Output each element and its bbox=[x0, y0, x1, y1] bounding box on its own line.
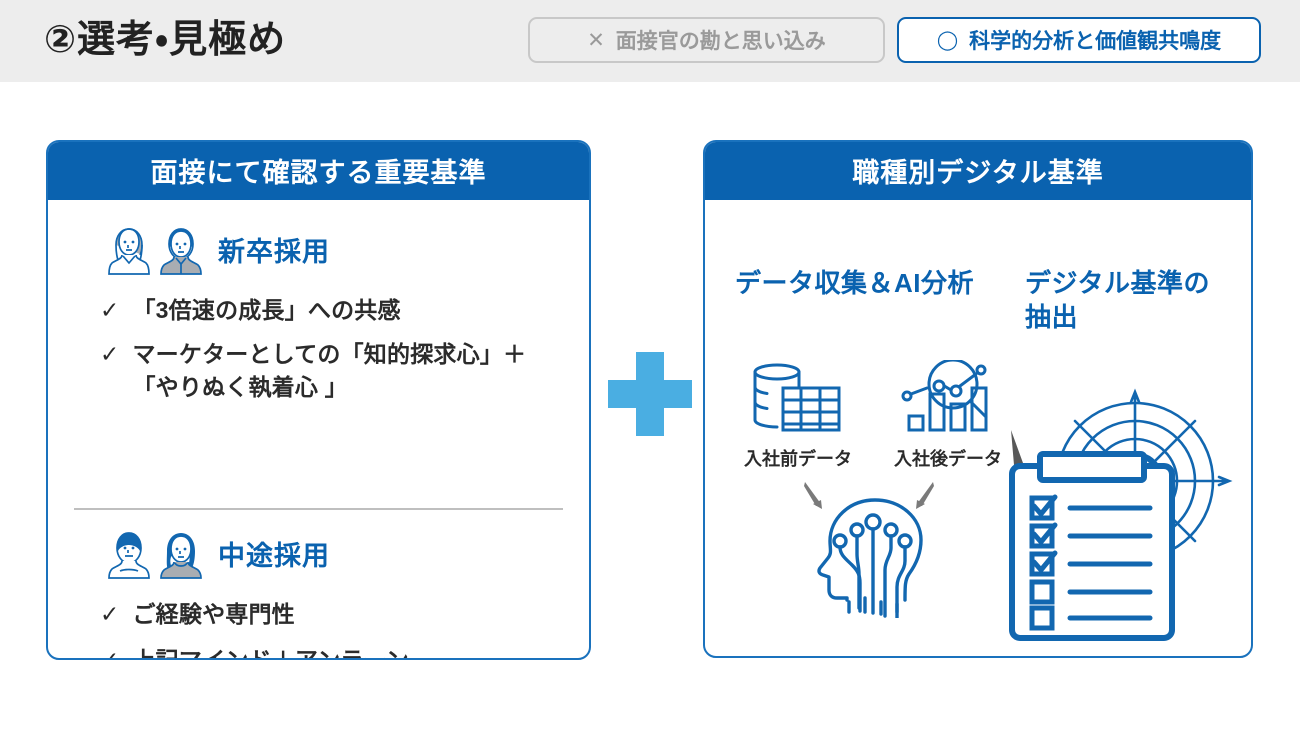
section-new-graduate-header: 新卒採用 bbox=[48, 218, 589, 280]
interview-criteria-card: 面接にて確認する重要基準 bbox=[46, 140, 591, 660]
two-people-icon bbox=[106, 527, 204, 579]
page-title: ②選考・見極め bbox=[44, 12, 286, 68]
ai-head-circuit-icon bbox=[783, 478, 959, 618]
two-people-icon bbox=[106, 223, 204, 275]
circle-icon: ◯ bbox=[937, 29, 958, 52]
check-icon: ✓ bbox=[100, 598, 119, 631]
plus-icon bbox=[608, 352, 692, 436]
digital-criteria-card: 職種別デジタル基準 データ収集＆AI分析 デジタル基準の抽出 bbox=[703, 140, 1253, 658]
database-table-icon bbox=[743, 360, 853, 438]
data-source-group: 入社前データ bbox=[723, 360, 1023, 471]
right-card-body: データ収集＆AI分析 デジタル基準の抽出 入社前データ bbox=[705, 200, 1251, 658]
bullet-text: マーケターとしての「知的探求心」＋「やりぬく執着心 」 bbox=[132, 338, 567, 404]
section-mid-career-header: 中途採用 bbox=[48, 522, 589, 584]
cross-icon: ✕ bbox=[587, 28, 605, 53]
column-title-criteria-extraction: デジタル基準の抽出 bbox=[1025, 266, 1235, 334]
section-new-graduate: 新卒採用 ✓ 「3倍速の成長」への共感 ✓ マーケターとしての「知的探求心」＋「… bbox=[48, 218, 589, 404]
bullet-text: 「3倍速の成長」への共感 bbox=[132, 294, 400, 327]
section-mid-career: 中途採用 ✓ ご経験や専門性 ✓ 上記マインド＋アンラーン bbox=[48, 522, 589, 660]
checklist-clipboard-icon bbox=[1000, 448, 1200, 648]
left-card-body: 新卒採用 ✓ 「3倍速の成長」への共感 ✓ マーケターとしての「知的探求心」＋「… bbox=[48, 200, 589, 660]
bullet-item: ✓ 上記マインド＋アンラーン bbox=[48, 644, 589, 660]
bullet-item: ✓ ご経験や専門性 bbox=[48, 598, 589, 631]
right-card-title: 職種別デジタル基準 bbox=[703, 140, 1253, 200]
analytics-magnifier-icon bbox=[893, 360, 1003, 438]
check-icon: ✓ bbox=[100, 644, 119, 660]
badge-negative[interactable]: ✕ 面接官の勘と思い込み bbox=[528, 17, 885, 63]
bullet-item: ✓ 「3倍速の成長」への共感 bbox=[48, 294, 589, 327]
left-card-title: 面接にて確認する重要基準 bbox=[46, 140, 591, 200]
bullet-item: ✓ マーケターとしての「知的探求心」＋「やりぬく執着心 」 bbox=[48, 338, 589, 404]
bullet-text: ご経験や専門性 bbox=[132, 598, 294, 631]
section-mid-career-title: 中途採用 bbox=[218, 534, 330, 573]
badge-positive-label: 科学的分析と価値観共鳴度 bbox=[969, 25, 1221, 55]
badge-positive[interactable]: ◯ 科学的分析と価値観共鳴度 bbox=[897, 17, 1261, 63]
column-title-data-collection: データ収集＆AI分析 bbox=[735, 266, 1015, 300]
bullet-text: 上記マインド＋アンラーン bbox=[132, 644, 408, 660]
ai-analysis-block: AIにて分析 活躍状況との相関を探る bbox=[783, 478, 959, 623]
data-source-pre-entry: 入社前データ bbox=[723, 360, 873, 471]
page-header-bar: ②選考・見極め ✕ 面接官の勘と思い込み ◯ 科学的分析と価値観共鳴度 bbox=[0, 0, 1300, 82]
check-icon: ✓ bbox=[100, 294, 119, 327]
section-new-graduate-title: 新卒採用 bbox=[218, 230, 330, 269]
section-divider bbox=[74, 508, 563, 510]
check-icon: ✓ bbox=[100, 338, 119, 371]
badge-negative-label: 面接官の勘と思い込み bbox=[616, 25, 826, 55]
data-source-pre-entry-label: 入社前データ bbox=[723, 445, 873, 471]
